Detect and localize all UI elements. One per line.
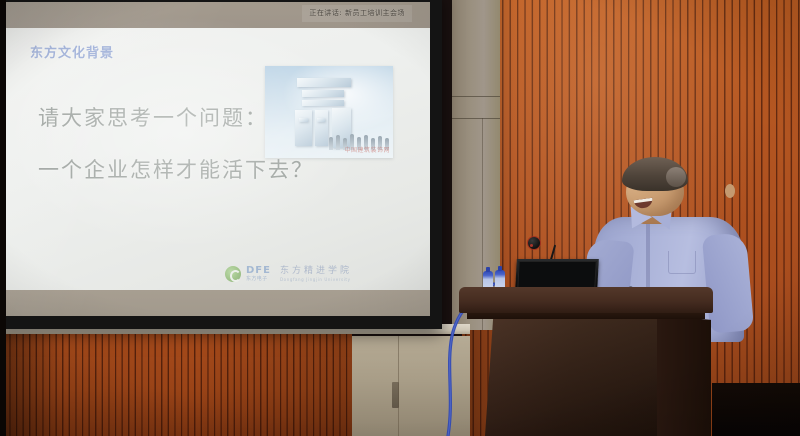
slide-canvas: 东方文化背景 请大家思考一个问题： 一个企业怎样才能活下去？ [6,28,430,290]
lectern [459,287,713,436]
wall-plate [392,382,399,408]
microphone-icon [528,237,540,249]
logo-abbr: DFE [246,266,271,276]
slide-footer-logo: DFE 东方电子 东方精进学院 Dongfang Jingjin Univers… [225,266,352,282]
dfe-leaf-icon [225,266,241,282]
wood-slat-wall-lower [0,330,352,436]
left-edge-shadow [0,0,6,436]
image-watermark: 中国建筑装饰网 [344,145,390,154]
projection-screen: 正在讲话: 新员工培训主会场 东方文化背景 请大家思考一个问题： 一个企业怎样才… [6,2,430,316]
presenter-hair [622,157,688,191]
status-banner: 正在讲话: 新员工培训主会场 [302,5,412,22]
shirt-pocket [668,251,696,274]
slide-image-win-monument: 中国建筑装饰网 [265,66,393,158]
slide-body-line-2: 一个企业怎样才能活下去？ [38,154,314,184]
projector-letterbox-bottom [6,290,430,316]
slide-body-line-1: 请大家思考一个问题： [38,102,268,132]
slide-title: 东方文化背景 [30,42,114,61]
dark-corner-shadow [712,383,800,436]
logo-abbr-sub: 东方电子 [246,277,271,282]
projection-screen-frame: 正在讲话: 新员工培训主会场 东方文化背景 请大家思考一个问题： 一个企业怎样才… [0,0,442,329]
logo-org-cn: 东方精进学院 [280,267,352,276]
laptop-screen [517,261,596,289]
presentation-photo-scene: 正在讲话: 新员工培训主会场 东方文化背景 请大家思考一个问题： 一个企业怎样才… [0,0,800,436]
presenter-ear [725,184,735,198]
logo-org-en: Dongfang Jingjin University [280,278,352,282]
